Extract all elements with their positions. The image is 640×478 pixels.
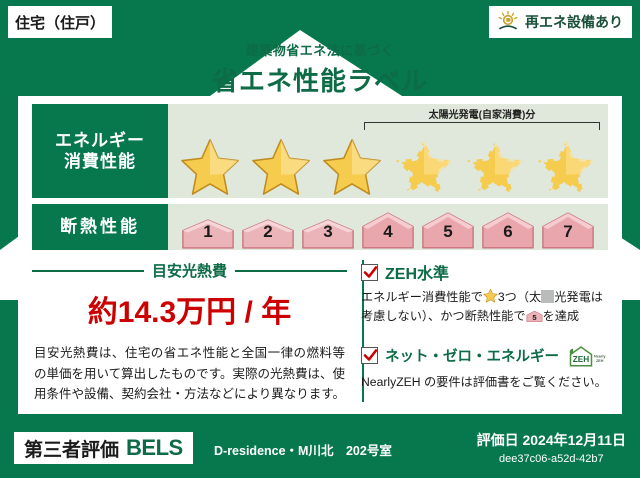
label-footer: 第三者評価 BELS D-residence・M川北 202号室 評価日 202… <box>0 420 640 478</box>
inline-insulation-badge: 5 <box>526 309 543 329</box>
energy-performance-body: 太陽光発電(自家消費)分 <box>168 104 608 198</box>
svg-text:ZEH: ZEH <box>596 359 604 363</box>
star-solid <box>321 136 383 196</box>
zeh-section: ZEH水準 エネルギー消費性能で3つ（太光発電は考慮しない）、かつ断熱性能で5を… <box>347 258 608 406</box>
insulation-badge-number: 3 <box>299 222 357 242</box>
energy-label-line1: エネルギー <box>55 130 145 151</box>
title-subtitle: 建築物省エネ法に基づく <box>0 40 640 59</box>
insulation-badge-number: 4 <box>359 222 417 242</box>
insulation-performance-row: 断熱性能 1 2 <box>32 204 608 250</box>
star-solid <box>250 136 312 196</box>
zeh-standard-block: ZEH水準 エネルギー消費性能で3つ（太光発電は考慮しない）、かつ断熱性能で5を… <box>361 260 608 329</box>
evaluation-info: 評価日 2024年12月11日 dee37c06-a52d-42b7 <box>477 430 626 465</box>
energy-performance-label: エネルギー 消費性能 <box>32 104 168 198</box>
insulation-performance-label: 断熱性能 <box>32 204 168 250</box>
solar-bracket <box>364 122 600 130</box>
bels-jp-label: 第三者評価 <box>24 435 119 462</box>
zeh-net-zero-header: ネット・ゼロ・エネルギー ZEH Nearly ZEH <box>361 343 608 369</box>
cost-rule-left <box>32 270 144 272</box>
insulation-badge: 2 <box>239 216 297 249</box>
label-card: エネルギー 消費性能 太陽光発電(自家消費)分 <box>18 96 622 414</box>
svg-text:ZEH: ZEH <box>573 355 590 364</box>
zeh-standard-title: ZEH水準 <box>385 260 449 284</box>
zeh-net-zero-block: ネット・ゼロ・エネルギー ZEH Nearly ZEH NearlyZEH の要… <box>361 343 608 392</box>
insulation-badge-number: 7 <box>539 222 597 242</box>
checkmark-icon <box>361 264 378 281</box>
insulation-badge: 7 <box>539 210 597 249</box>
cost-value: 約14.3万円 / 年 <box>32 287 347 331</box>
energy-label-line2: 消費性能 <box>64 151 136 172</box>
insulation-badge-number: 5 <box>419 222 477 242</box>
svg-text:Nearly: Nearly <box>594 354 606 358</box>
renewable-badge-label: 再エネ設備あり <box>525 12 623 32</box>
inline-star-icon <box>483 288 498 303</box>
star-solar-dashed <box>464 136 526 196</box>
cost-note: 目安光熱費は、住宅の省エネ性能と全国一律の燃料等の単価を用いて算出したものです。… <box>32 343 347 405</box>
insulation-badge: 4 <box>359 210 417 249</box>
insulation-badge: 5 <box>419 210 477 249</box>
zeh-net-zero-body: NearlyZEH の要件は評価書をご覧ください。 <box>361 373 608 392</box>
zeh-body-pre: エネルギー消費性能で <box>361 290 483 304</box>
solar-annotation-label: 太陽光発電(自家消費)分 <box>364 106 600 121</box>
insulation-badge: 6 <box>479 210 537 249</box>
cost-section: 目安光熱費 約14.3万円 / 年 目安光熱費は、住宅の省エネ性能と全国一律の燃… <box>32 258 347 406</box>
star-solar-dashed <box>535 136 597 196</box>
title-main: 省エネ性能ラベル <box>0 61 640 98</box>
energy-label-root: 住宅（住戸） 再エネ設備あり 建築物省エネ法に基づく 省エネ性能ラベル エネルギ… <box>0 0 640 478</box>
category-tag: 住宅（住戸） <box>8 6 112 38</box>
cost-rule-right <box>235 270 347 272</box>
insulation-badge: 1 <box>179 216 237 249</box>
checkmark-icon <box>361 347 378 364</box>
evaluation-id: dee37c06-a52d-42b7 <box>477 453 626 465</box>
cost-heading: 目安光熱費 <box>32 260 347 281</box>
solar-sun-icon <box>496 10 520 34</box>
zeh-body-end: を達成 <box>543 309 580 323</box>
bels-en-label: BELS <box>126 435 183 461</box>
zeh-body-mid: 3つ（太 <box>498 290 541 304</box>
insulation-badge-number: 1 <box>179 222 237 242</box>
zeh-house-logo-icon: ZEH Nearly ZEH <box>566 343 608 369</box>
zeh-net-zero-title: ネット・ゼロ・エネルギー <box>385 345 559 366</box>
insulation-badge-list: 1 2 3 <box>168 204 608 250</box>
solar-annotation: 太陽光発電(自家消費)分 <box>364 106 600 130</box>
redaction-mask <box>541 290 554 303</box>
energy-performance-row: エネルギー 消費性能 太陽光発電(自家消費)分 <box>32 104 608 198</box>
building-name: D-residence・M川北 202号室 <box>214 440 392 459</box>
zeh-standard-body: エネルギー消費性能で3つ（太光発電は考慮しない）、かつ断熱性能で5を達成 <box>361 288 608 329</box>
lower-section: 目安光熱費 約14.3万円 / 年 目安光熱費は、住宅の省エネ性能と全国一律の燃… <box>32 258 608 406</box>
insulation-badge-number: 6 <box>479 222 537 242</box>
insulation-badge: 3 <box>299 216 357 249</box>
bels-tag: 第三者評価 BELS <box>14 432 193 464</box>
insulation-performance-body: 1 2 3 <box>168 204 608 250</box>
star-solid <box>179 136 241 196</box>
cost-heading-label: 目安光熱費 <box>152 260 227 281</box>
label-title: 建築物省エネ法に基づく 省エネ性能ラベル <box>0 40 640 98</box>
insulation-badge-number: 2 <box>239 222 297 242</box>
evaluation-date: 評価日 2024年12月11日 <box>477 430 626 450</box>
zeh-standard-header: ZEH水準 <box>361 260 608 284</box>
energy-star-rating <box>168 136 608 196</box>
renewable-energy-badge: 再エネ設備あり <box>489 6 632 38</box>
star-solar-dashed <box>393 136 455 196</box>
